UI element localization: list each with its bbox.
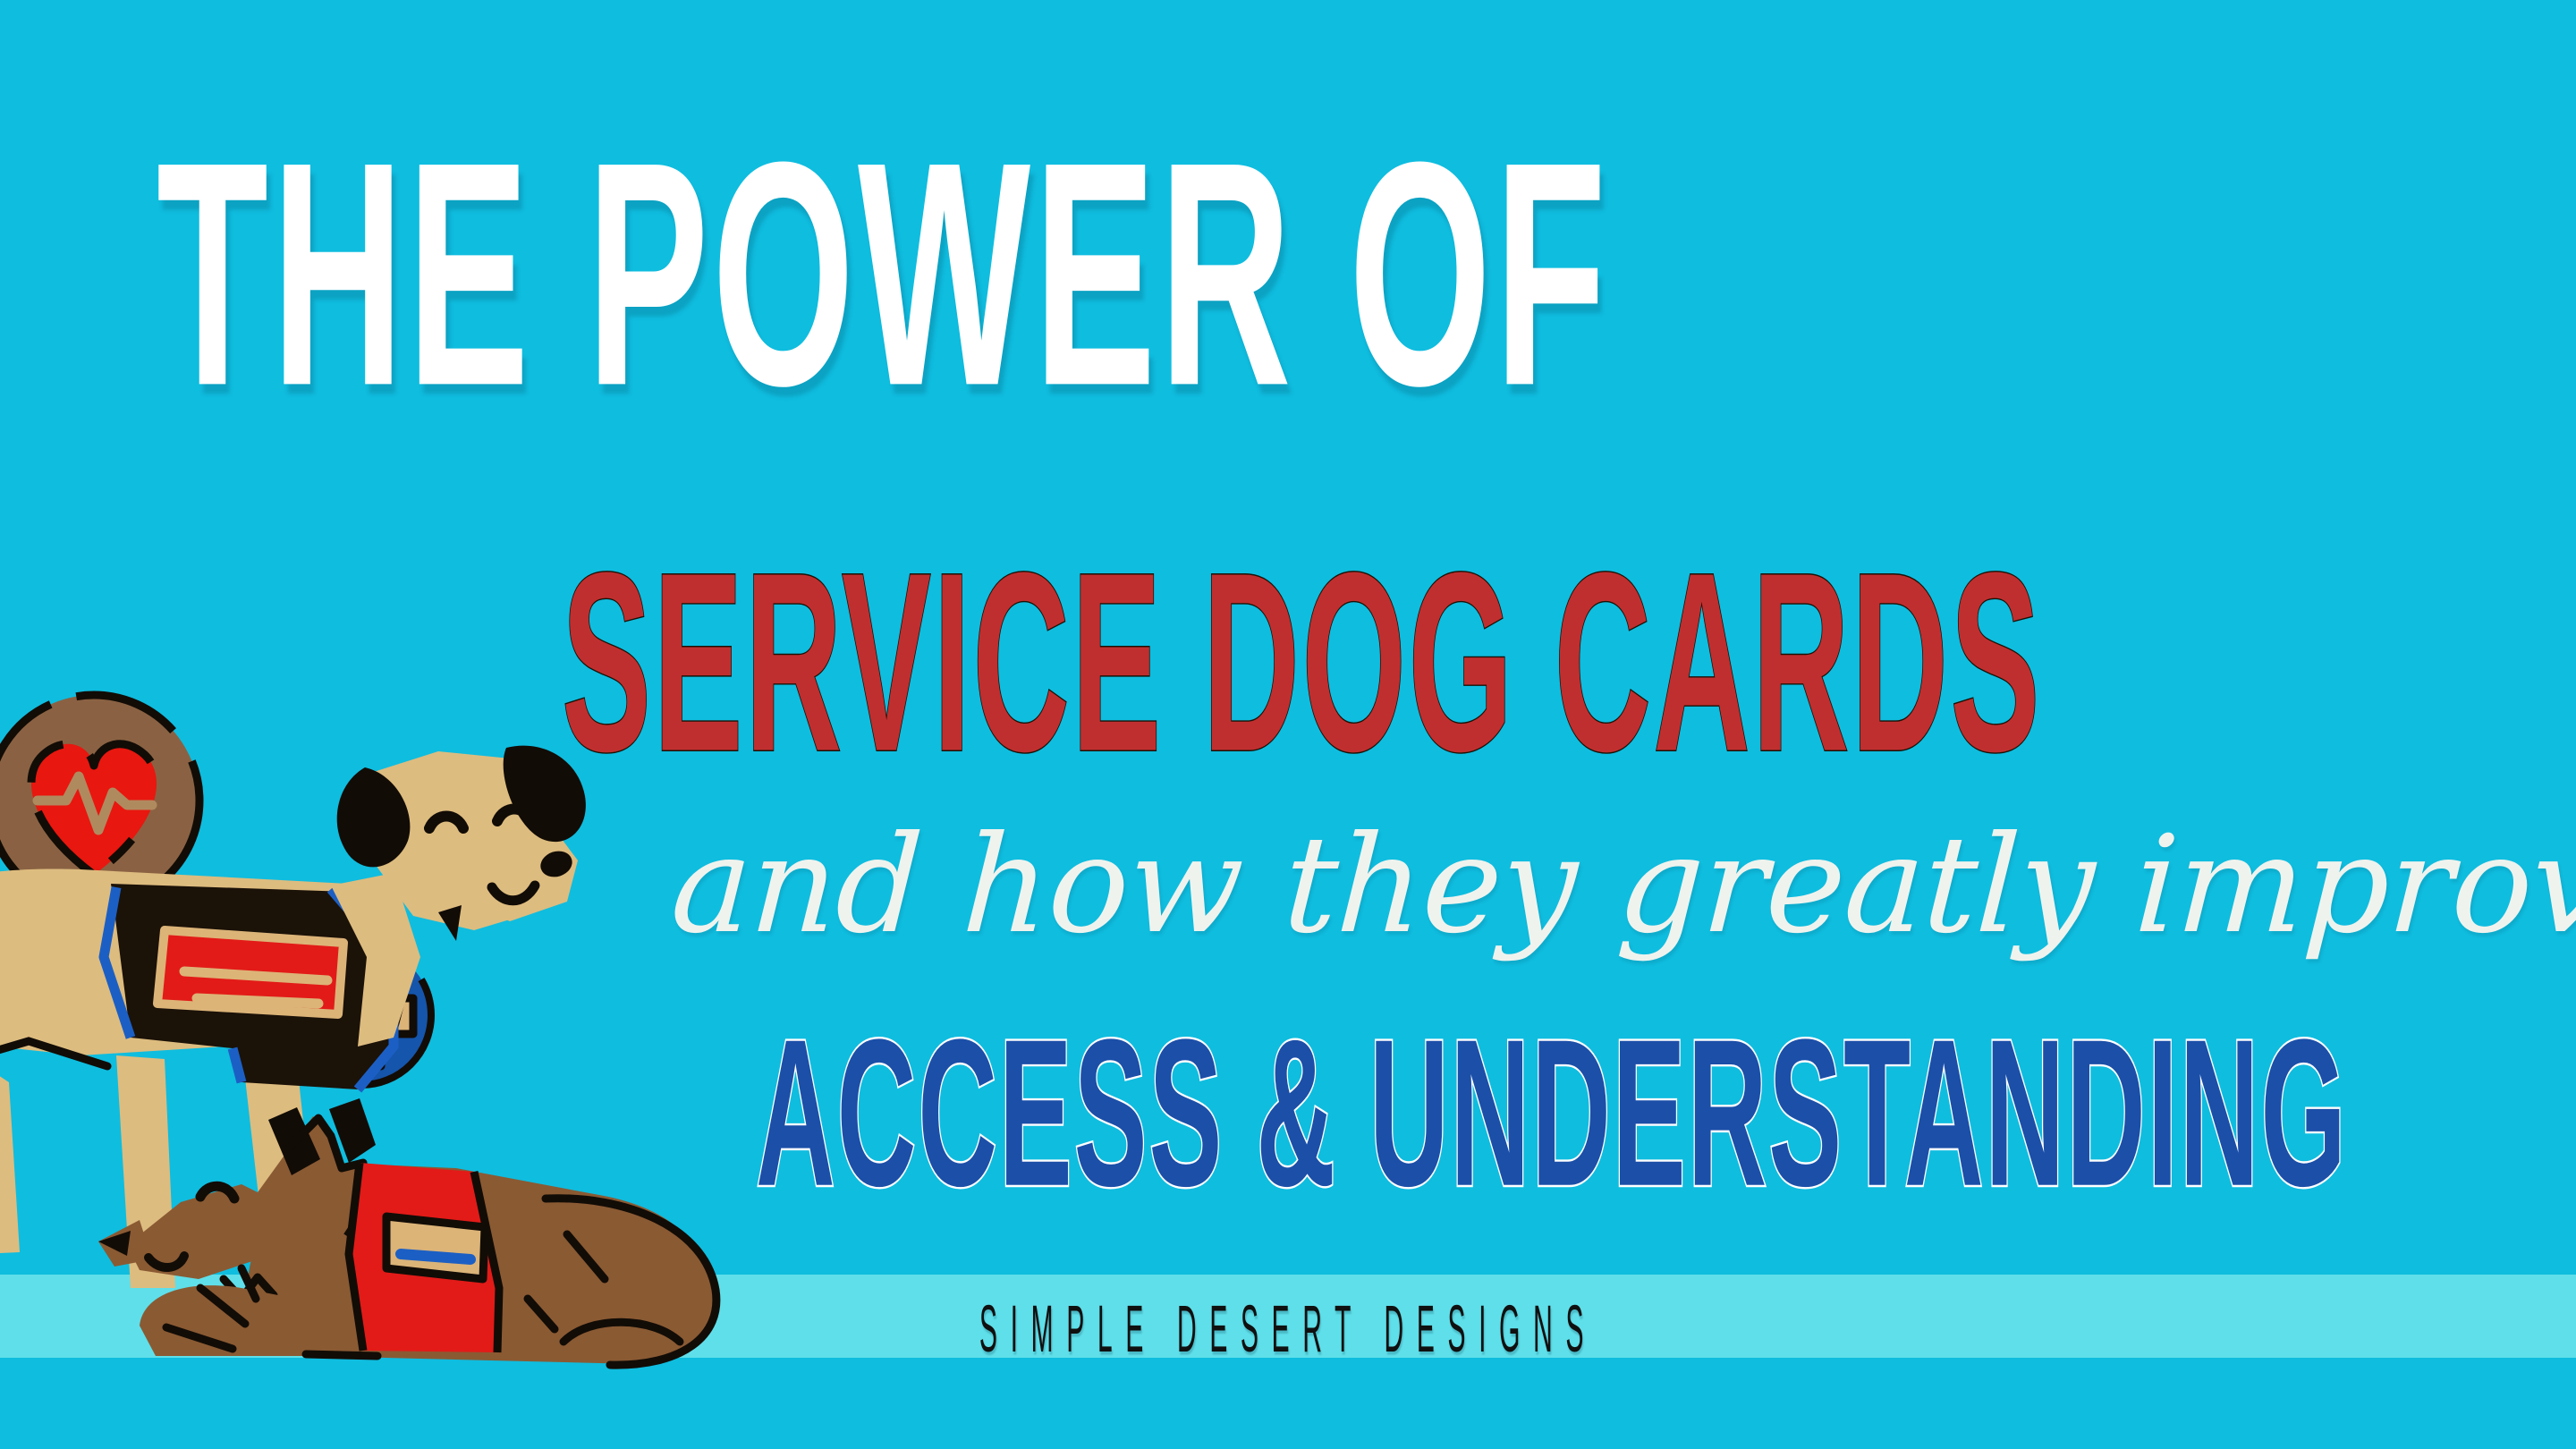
headline-line-2: SERVICE DOG CARDS	[562, 535, 2042, 790]
brand-signature: SIMPLE DESERT DESIGNS	[618, 1291, 1958, 1368]
poster-canvas: THE POWER OF SERVICE DOG CARDS and how t…	[0, 0, 2576, 1449]
headline-script-line: and how they greatly improve	[668, 818, 2576, 953]
headline-line-1: THE POWER OF	[157, 114, 1610, 433]
headline-line-4: ACCESS & UNDERSTANDING	[756, 1009, 2348, 1218]
headline-block: THE POWER OF SERVICE DOG CARDS and how t…	[0, 0, 2576, 1449]
